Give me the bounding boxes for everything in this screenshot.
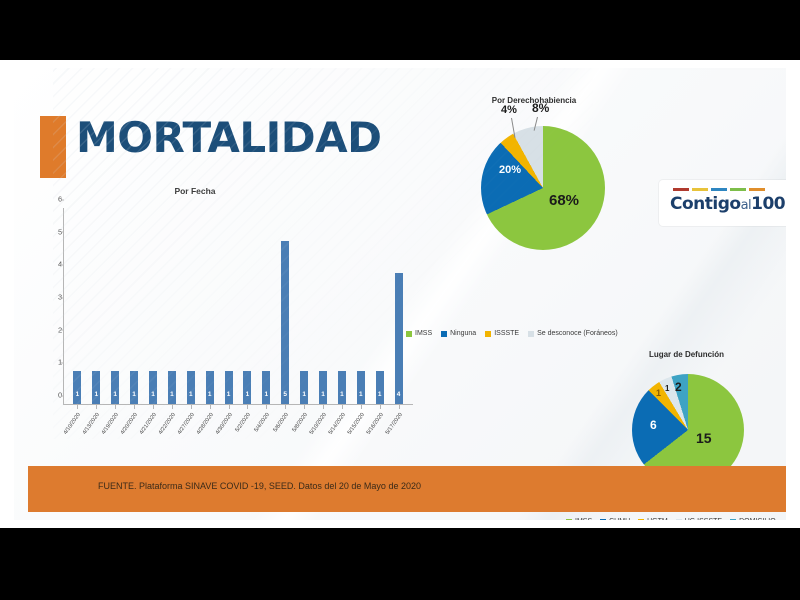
logo-bar	[711, 188, 727, 191]
logo-word-contigo: Contigo	[670, 194, 741, 214]
bar-value-label: 1	[208, 391, 212, 398]
x-tick	[323, 405, 324, 409]
x-label-slot: 5/8/2020	[295, 410, 314, 470]
pie1-legend: IMSSNingunaISSSTESe desconoce (Foráneos)	[406, 330, 618, 337]
x-label-slot: 5/15/2020	[351, 410, 370, 470]
slide-screen: MORTALIDAD Por Fecha 0123456 11111111111…	[0, 0, 800, 600]
legend-label: HGTM	[647, 518, 668, 520]
pie1-label-ninguna: 20%	[499, 164, 521, 176]
bar-value-label: 5	[283, 391, 287, 398]
x-tick	[285, 405, 286, 409]
x-label-slot: 4/27/2020	[181, 410, 200, 470]
x-label-slot: 5/14/2020	[332, 410, 351, 470]
bar-value-label: 1	[302, 391, 306, 398]
legend-item: ISSSTE	[485, 330, 519, 337]
legend-swatch	[485, 331, 491, 337]
pie1-label-issste: 4%	[501, 104, 517, 116]
bar: 1	[243, 371, 251, 404]
bar: 1	[92, 371, 100, 404]
bar-slot: 1	[257, 208, 276, 404]
presentation-slide: MORTALIDAD Por Fecha 0123456 11111111111…	[14, 68, 786, 520]
logo-word-100: 100	[751, 194, 785, 214]
bar: 1	[319, 371, 327, 404]
x-tick	[342, 405, 343, 409]
bar-slot: 1	[87, 208, 106, 404]
x-tick-label: 4/10/2020	[63, 412, 82, 436]
legend-item: Se desconoce (Foráneos)	[528, 330, 618, 337]
legend-label: HG ISSSTE	[685, 518, 722, 520]
bar: 1	[376, 371, 384, 404]
bar-chart-por-fecha: Por Fecha 0123456 111111111115111114 4/1…	[30, 186, 420, 506]
legend-label: DOMICILIO	[739, 518, 776, 520]
legend-swatch	[600, 519, 606, 521]
x-tick	[247, 405, 248, 409]
x-tick	[172, 405, 173, 409]
logo-text: Contigoal100	[670, 194, 785, 214]
bar-value-label: 4	[397, 391, 401, 398]
bar: 1	[111, 371, 119, 404]
logo-bar	[749, 188, 765, 191]
bar-slot: 1	[106, 208, 125, 404]
x-label-slot: 4/22/2020	[162, 410, 181, 470]
bar-chart-x-labels: 4/10/20204/13/20204/19/20204/20/20204/21…	[64, 410, 412, 470]
pie2-label-hgtm: 1	[656, 388, 661, 398]
x-tick	[115, 405, 116, 409]
bar-chart-plot-area: 0123456 111111111115111114	[64, 208, 412, 404]
bar: 1	[187, 371, 195, 404]
bar-slot: 1	[200, 208, 219, 404]
page-title: MORTALIDAD	[76, 113, 381, 162]
bar-value-label: 1	[321, 391, 325, 398]
x-tick	[77, 405, 78, 409]
title-accent-bar	[40, 116, 66, 178]
pie2-label-chmh: 6	[650, 418, 657, 432]
bar-value-label: 1	[340, 391, 344, 398]
x-tick	[134, 405, 135, 409]
bar-slot: 1	[370, 208, 389, 404]
bar: 4	[395, 273, 403, 404]
pie1-label-imss: 68%	[549, 192, 579, 209]
legend-swatch	[566, 519, 572, 521]
x-label-slot: 5/17/2020	[389, 410, 408, 470]
bar-value-label: 1	[227, 391, 231, 398]
bar: 1	[168, 371, 176, 404]
x-label-slot: 4/28/2020	[200, 410, 219, 470]
slide-white-frame: MORTALIDAD Por Fecha 0123456 11111111111…	[0, 60, 800, 528]
x-label-slot: 4/19/2020	[106, 410, 125, 470]
bar-slot: 1	[238, 208, 257, 404]
bar: 1	[357, 371, 365, 404]
bar-slot: 1	[219, 208, 238, 404]
bar: 1	[300, 371, 308, 404]
logo-bar	[692, 188, 708, 191]
bar-value-label: 1	[76, 391, 80, 398]
logo-bar	[673, 188, 689, 191]
bar-value-label: 1	[151, 391, 155, 398]
x-tick	[210, 405, 211, 409]
legend-item: CHMH	[600, 518, 630, 520]
x-tick	[361, 405, 362, 409]
bar-value-label: 1	[132, 391, 136, 398]
pie2-label-domicilio: 2	[675, 380, 682, 394]
x-tick	[380, 405, 381, 409]
pie-chart-derechohabiencia: Por Derechohabiencia 68% 20% 4% 8%	[419, 96, 649, 316]
bar-value-label: 1	[170, 391, 174, 398]
bar-value-label: 1	[378, 391, 382, 398]
bar-slot: 1	[295, 208, 314, 404]
legend-label: IMSS	[575, 518, 592, 520]
legend-item: DOMICILIO	[730, 518, 776, 520]
x-label-slot: 4/30/2020	[219, 410, 238, 470]
x-label-slot: 5/6/2020	[276, 410, 295, 470]
bar: 1	[149, 371, 157, 404]
bar: 1	[130, 371, 138, 404]
pie2-legend: IMSSCHMHHGTMHG ISSSTEDOMICILIO	[566, 518, 776, 520]
bar-slot: 1	[332, 208, 351, 404]
bar-slot: 4	[389, 208, 408, 404]
x-tick	[266, 405, 267, 409]
legend-item: Ninguna	[441, 330, 476, 337]
legend-label: CHMH	[609, 518, 630, 520]
bar: 1	[225, 371, 233, 404]
bar: 5	[281, 241, 289, 404]
x-tick	[304, 405, 305, 409]
pie2-label-hg-issste: 1	[665, 384, 669, 393]
pie1-label-desconoce: 8%	[532, 101, 549, 115]
bar: 1	[206, 371, 214, 404]
x-label-slot: 5/4/2020	[257, 410, 276, 470]
bar-slot: 5	[276, 208, 295, 404]
legend-swatch	[406, 331, 412, 337]
legend-swatch	[638, 519, 644, 521]
bar-slot: 1	[162, 208, 181, 404]
x-tick-label: 5/4/2020	[254, 412, 271, 433]
bar-chart-bars: 111111111115111114	[64, 208, 412, 404]
x-tick	[229, 405, 230, 409]
footer-band: FUENTE. Plataforma SINAVE COVID -19, SEE…	[28, 466, 786, 512]
bar-slot: 1	[68, 208, 87, 404]
legend-swatch	[676, 519, 682, 521]
legend-swatch	[441, 331, 447, 337]
x-label-slot: 5/10/2020	[314, 410, 333, 470]
x-label-slot: 5/2/2020	[238, 410, 257, 470]
x-label-slot: 4/21/2020	[144, 410, 163, 470]
bar-value-label: 1	[265, 391, 269, 398]
bar-slot: 1	[314, 208, 333, 404]
legend-item: IMSS	[406, 330, 432, 337]
x-tick	[399, 405, 400, 409]
legend-swatch	[730, 519, 736, 521]
legend-label: ISSSTE	[494, 330, 519, 337]
bar-slot: 1	[144, 208, 163, 404]
pie2-label-imss: 15	[696, 430, 712, 446]
x-label-slot: 5/16/2020	[370, 410, 389, 470]
legend-item: IMSS	[566, 518, 592, 520]
x-tick	[191, 405, 192, 409]
bar-slot: 1	[125, 208, 144, 404]
x-tick-label: 5/2/2020	[235, 412, 252, 433]
x-tick-label: 5/6/2020	[273, 412, 290, 433]
x-label-slot: 4/10/2020	[68, 410, 87, 470]
legend-swatch	[528, 331, 534, 337]
bar-value-label: 1	[95, 391, 99, 398]
legend-item: HGTM	[638, 518, 668, 520]
contigo-al-100-logo: Contigoal100	[659, 180, 786, 226]
x-tick-label: 5/8/2020	[292, 412, 309, 433]
y-tick-label: 6	[58, 195, 64, 204]
bar-slot: 1	[181, 208, 200, 404]
logo-color-bars	[673, 188, 765, 191]
x-label-slot: 4/20/2020	[125, 410, 144, 470]
bar: 1	[338, 371, 346, 404]
bar-chart-title: Por Fecha	[30, 186, 360, 196]
legend-label: IMSS	[415, 330, 432, 337]
bar: 1	[262, 371, 270, 404]
pie1-graphic	[481, 126, 605, 250]
bar-value-label: 1	[113, 391, 117, 398]
bar-value-label: 1	[189, 391, 193, 398]
legend-label: Ninguna	[450, 330, 476, 337]
footer-source-text: FUENTE. Plataforma SINAVE COVID -19, SEE…	[98, 481, 421, 491]
bar: 1	[73, 371, 81, 404]
x-tick	[153, 405, 154, 409]
logo-word-al: al	[741, 198, 752, 213]
x-label-slot: 4/13/2020	[87, 410, 106, 470]
bar-value-label: 1	[359, 391, 363, 398]
bar-slot: 1	[351, 208, 370, 404]
pie2-title: Lugar de Defunción	[584, 350, 786, 359]
bar-value-label: 1	[246, 391, 250, 398]
legend-label: Se desconoce (Foráneos)	[537, 330, 618, 337]
legend-item: HG ISSSTE	[676, 518, 722, 520]
logo-bar	[730, 188, 746, 191]
x-tick	[96, 405, 97, 409]
